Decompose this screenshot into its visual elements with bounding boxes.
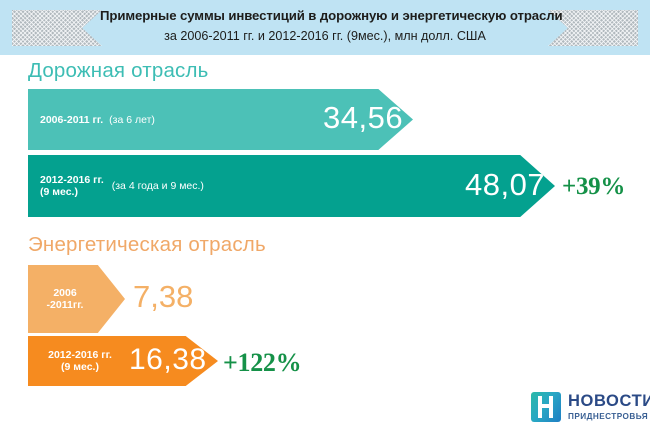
- logo-mark-icon: [531, 392, 561, 422]
- bar-energy-2012-2016: 2012-2016 гг. (9 мес.) 16,38: [28, 336, 218, 386]
- logo-subtitle: ПРИДНЕСТРОВЬЯ: [568, 413, 650, 421]
- ribbon-tail-left-icon: [12, 10, 102, 46]
- bar-road-2006-2011: 2006-2011 гг. (за 6 лет) 34,56: [28, 89, 413, 150]
- logo-bridge-icon: [538, 404, 553, 408]
- bar-value: 7,38: [133, 281, 193, 312]
- bar-label: 2006-2011 гг.: [40, 114, 103, 126]
- bar-label: 2006 -2011гг.: [34, 287, 96, 312]
- bar-label: 2012-2016 гг. (9 мес.): [37, 349, 123, 374]
- bar-energy-2006-2011: 2006 -2011гг.: [28, 265, 125, 333]
- growth-badge-road: +39%: [562, 174, 625, 199]
- logo-title: НОВОСТИ: [568, 393, 650, 410]
- bar-value: 34,56: [323, 102, 403, 133]
- infographic-root: Примерные суммы инвестиций в дорожную и …: [0, 0, 650, 433]
- site-logo[interactable]: НОВОСТИ ПРИДНЕСТРОВЬЯ: [531, 392, 650, 422]
- bar-sublabel: (за 4 года и 9 мес.): [112, 180, 204, 192]
- growth-badge-energy: +122%: [223, 350, 301, 376]
- bar-value: 16,38: [129, 345, 207, 375]
- title-banner: Примерные суммы инвестиций в дорожную и …: [0, 0, 650, 55]
- page-title: Примерные суммы инвестиций в дорожную и …: [100, 7, 550, 45]
- bar-sublabel: (за 6 лет): [109, 114, 155, 126]
- bar-label: 2012-2016 гг. (9 мес.): [40, 174, 104, 198]
- page-title-line1: Примерные суммы инвестиций в дорожную и …: [100, 7, 550, 25]
- logo-text: НОВОСТИ ПРИДНЕСТРОВЬЯ: [568, 393, 650, 421]
- page-title-line2: за 2006-2011 гг. и 2012-2016 гг. (9мес.)…: [100, 27, 550, 45]
- bar-value: 48,07: [465, 169, 545, 200]
- bar-road-2012-2016: 2012-2016 гг. (9 мес.) (за 4 года и 9 ме…: [28, 155, 555, 217]
- section-heading-road: Дорожная отрасль: [28, 59, 209, 83]
- section-heading-energy: Энергетическая отрасль: [28, 233, 266, 257]
